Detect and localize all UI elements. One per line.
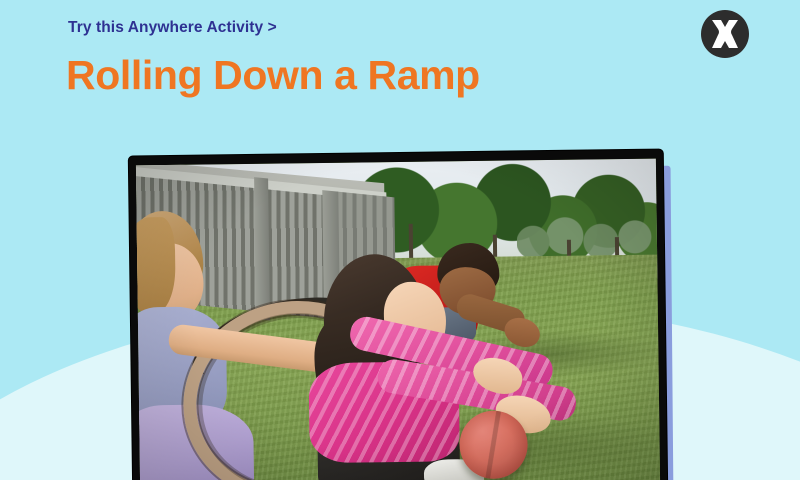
kicker-label[interactable]: Try this Anywhere Activity >	[68, 19, 277, 37]
activity-photo	[136, 159, 660, 480]
activity-photo-frame[interactable]	[129, 150, 667, 480]
activity-screen: Try this Anywhere Activity > Rolling Dow…	[0, 0, 800, 480]
photo-fence-post	[254, 177, 270, 320]
close-x-icon	[701, 10, 749, 58]
page-title: Rolling Down a Ramp	[66, 52, 480, 99]
close-button[interactable]	[701, 10, 749, 58]
photo-child-left-hair-front	[136, 217, 176, 314]
